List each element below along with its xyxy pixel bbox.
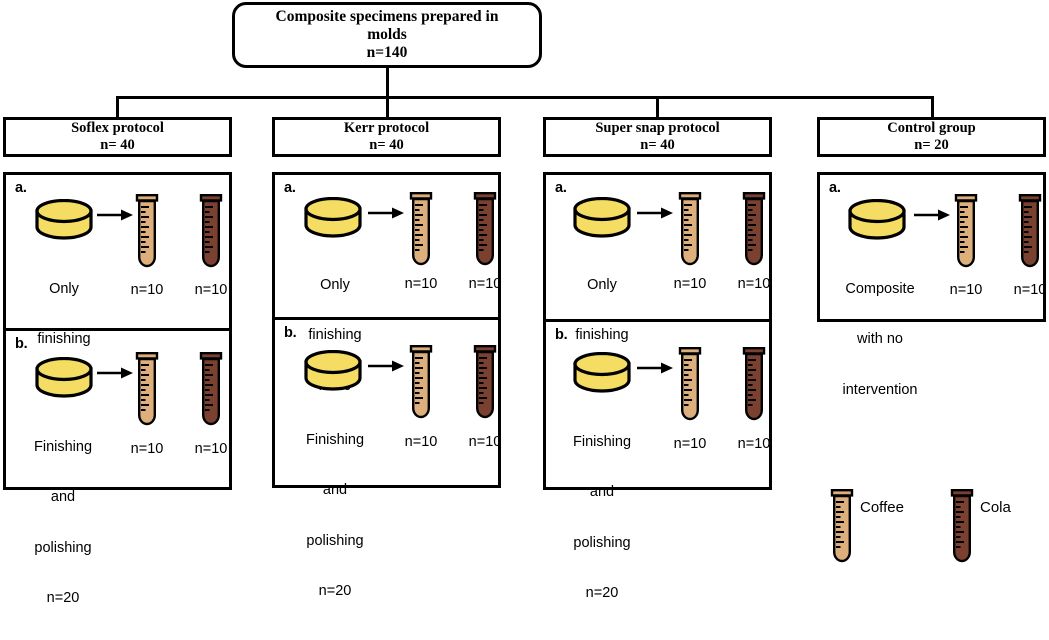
caption-line: intervention: [822, 382, 938, 399]
group-header-control-n: n= 20: [914, 137, 948, 154]
subpanel-letter: a.: [555, 180, 567, 196]
connector-drop-control: [931, 96, 934, 118]
subpanel-letter: b.: [284, 325, 297, 341]
root-title-line2: molds: [367, 26, 407, 44]
caption-line: and: [11, 489, 115, 506]
cola-tube-icon: [741, 346, 767, 424]
caption-line: Finishing: [11, 439, 115, 456]
group-header-super-snap-n: n= 40: [640, 137, 674, 154]
group-header-kerr-n: n= 40: [369, 137, 403, 154]
specimen-disc-icon: [571, 352, 633, 396]
cola-count-label: n=10: [1000, 282, 1049, 298]
coffee-tube-icon: [408, 344, 434, 422]
root-title-line1: Composite specimens prepared in: [276, 8, 499, 26]
subpanel-letter: a.: [15, 180, 27, 196]
caption-line: n=20: [11, 590, 115, 607]
caption-line: n=20: [283, 583, 387, 600]
group-header-control-title: Control group: [887, 120, 976, 137]
specimen-disc-icon: [33, 357, 95, 401]
specimen-disc-icon: [846, 199, 908, 243]
caption-line: with no: [822, 331, 938, 348]
group-header-soflex-n: n= 40: [100, 137, 134, 154]
transfer-arrow-icon: [367, 205, 405, 221]
cola-tube-icon: [198, 351, 224, 429]
specimen-disc-icon: [302, 350, 364, 394]
root-n-label: n=140: [367, 44, 408, 62]
root-node-composite-specimens: Composite specimens prepared in molds n=…: [232, 2, 542, 68]
coffee-tube-icon: [677, 346, 703, 424]
legend-coffee-tube-icon: [829, 488, 855, 566]
subpanel-super-snap-b: b.: [546, 322, 769, 487]
caption-line: polishing: [11, 540, 115, 557]
coffee-count-label: n=10: [936, 282, 996, 298]
cola-count-label: n=10: [724, 276, 784, 292]
transfer-arrow-icon: [96, 365, 134, 381]
caption-line: Composite: [822, 281, 938, 298]
specimen-disc-icon: [33, 199, 95, 243]
caption-line: Finishing: [550, 434, 654, 451]
caption-line: Finishing: [283, 432, 387, 449]
coffee-count-label: n=10: [117, 441, 177, 457]
legend-cola-tube-icon: [949, 488, 975, 566]
group-header-kerr-title: Kerr protocol: [344, 120, 429, 137]
subpanel-letter: a.: [829, 180, 841, 196]
subpanel-soflex-a: a.: [6, 175, 229, 331]
coffee-count-label: n=10: [660, 276, 720, 292]
cola-tube-icon: [741, 191, 767, 269]
transfer-arrow-icon: [367, 358, 405, 374]
coffee-tube-icon: [953, 193, 979, 271]
legend-cola-label: Cola: [980, 499, 1011, 516]
subpanel-soflex-b: b.: [6, 331, 229, 490]
subpanel-letter: b.: [555, 327, 568, 343]
cola-count-label: n=10: [455, 434, 515, 450]
panel-super-snap: a.: [543, 172, 772, 490]
subpanel-super-snap-a: a.: [546, 175, 769, 322]
legend-coffee-label: Coffee: [860, 499, 904, 516]
subpanel-kerr-b: b.: [275, 320, 498, 485]
transfer-arrow-icon: [636, 360, 674, 376]
cola-count-label: n=10: [181, 282, 241, 298]
subpanel-caption: Finishing and polishing n=20: [11, 405, 115, 640]
connector-drop-soflex: [116, 96, 119, 118]
group-header-soflex-title: Soflex protocol: [71, 120, 164, 137]
transfer-arrow-icon: [913, 207, 951, 223]
group-header-super-snap-title: Super snap protocol: [595, 120, 719, 137]
legend: Coffee Cola: [820, 486, 1049, 572]
subpanel-kerr-a: a.: [275, 175, 498, 320]
transfer-arrow-icon: [96, 207, 134, 223]
subpanel-letter: a.: [284, 180, 296, 196]
caption-line: n=20: [550, 585, 654, 602]
group-header-kerr: Kerr protocol n= 40: [272, 117, 501, 157]
coffee-tube-icon: [134, 351, 160, 429]
specimen-disc-icon: [302, 197, 364, 241]
group-header-super-snap: Super snap protocol n= 40: [543, 117, 772, 157]
subpanel-caption: Finishing and polishing n=20: [283, 398, 387, 633]
subpanel-letter: b.: [15, 336, 28, 352]
panel-control: a.: [817, 172, 1046, 322]
coffee-count-label: n=10: [391, 276, 451, 292]
coffee-count-label: n=10: [117, 282, 177, 298]
coffee-count-label: n=10: [660, 436, 720, 452]
cola-tube-icon: [198, 193, 224, 271]
cola-count-label: n=10: [181, 441, 241, 457]
connector-drop-super-snap: [656, 96, 659, 118]
group-header-control: Control group n= 20: [817, 117, 1046, 157]
transfer-arrow-icon: [636, 205, 674, 221]
connector-drop-kerr: [386, 96, 389, 118]
cola-tube-icon: [472, 344, 498, 422]
subpanel-control-a: a.: [820, 175, 1043, 325]
caption-line: polishing: [550, 535, 654, 552]
caption-line: Only: [16, 281, 112, 298]
caption-line: polishing: [283, 533, 387, 550]
coffee-tube-icon: [134, 193, 160, 271]
caption-line: Only: [287, 277, 383, 294]
connector-root-stem: [386, 68, 389, 98]
caption-line: Only: [554, 277, 650, 294]
caption-line: and: [283, 482, 387, 499]
coffee-tube-icon: [408, 191, 434, 269]
coffee-count-label: n=10: [391, 434, 451, 450]
panel-kerr: a.: [272, 172, 501, 488]
cola-count-label: n=10: [724, 436, 784, 452]
panel-soflex: a.: [3, 172, 232, 490]
subpanel-caption: Finishing and polishing n=20: [550, 400, 654, 635]
group-header-soflex: Soflex protocol n= 40: [3, 117, 232, 157]
subpanel-caption: Composite with no intervention: [822, 247, 938, 432]
coffee-tube-icon: [677, 191, 703, 269]
cola-tube-icon: [1017, 193, 1043, 271]
cola-count-label: n=10: [455, 276, 515, 292]
cola-tube-icon: [472, 191, 498, 269]
connector-horizontal-bus: [116, 96, 934, 99]
caption-line: and: [550, 484, 654, 501]
specimen-disc-icon: [571, 197, 633, 241]
